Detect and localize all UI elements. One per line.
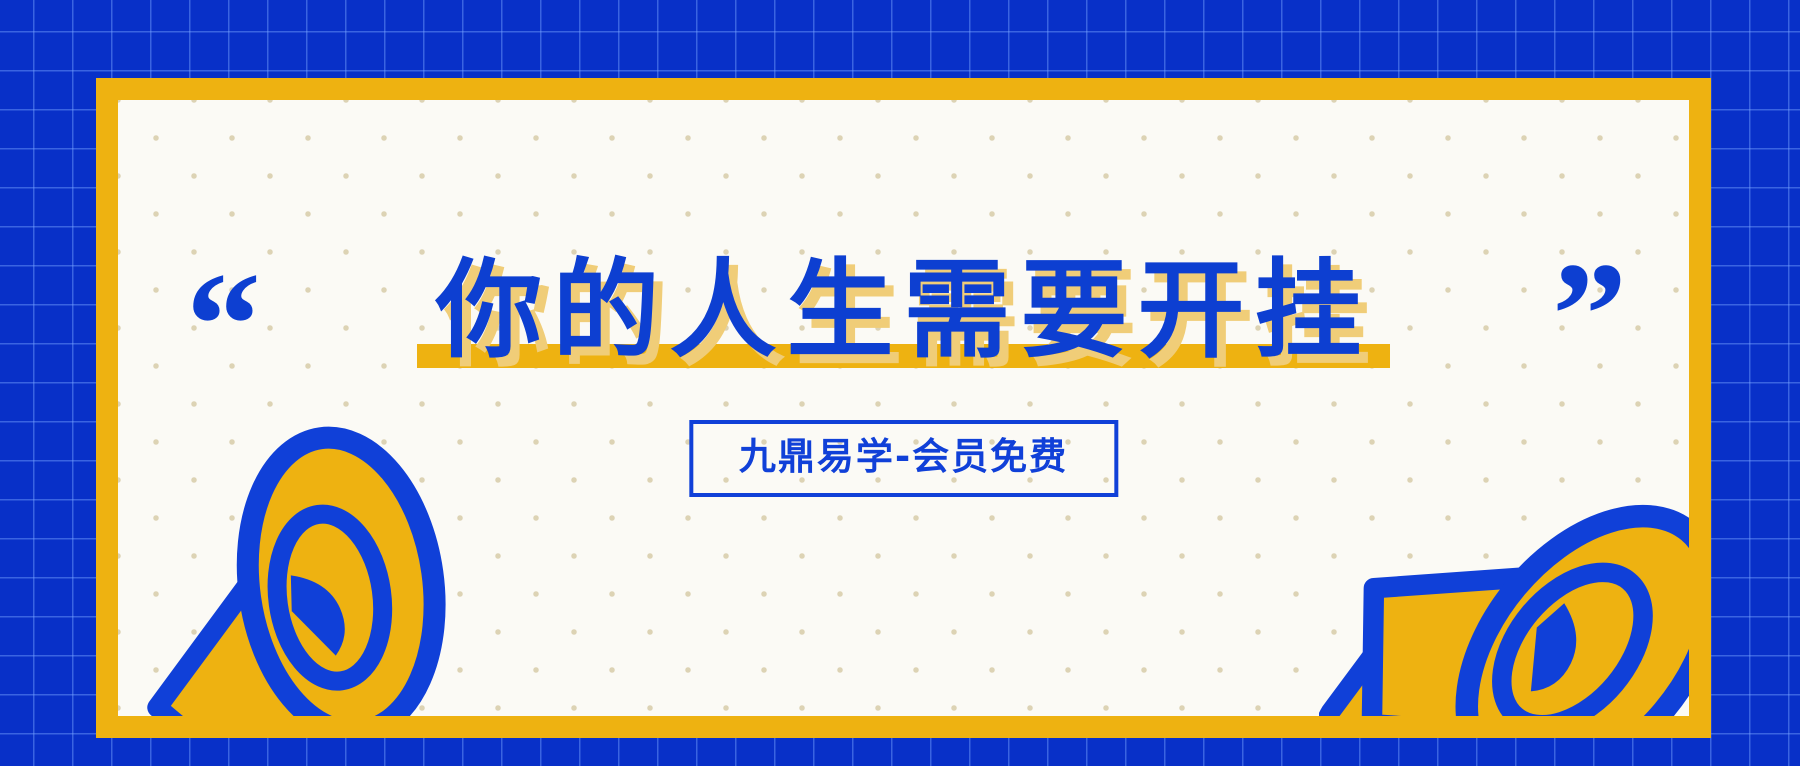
headline-group: 你的人生需要开挂	[429, 248, 1377, 374]
headline-area: 你的人生需要开挂	[118, 248, 1689, 374]
megaphone-icon-left	[118, 372, 486, 716]
subtitle-text: 九鼎易学-会员免费	[739, 435, 1068, 478]
subtitle-badge: 九鼎易学-会员免费	[689, 420, 1118, 497]
page-title: 你的人生需要开挂	[429, 249, 1377, 373]
promo-banner: “ ” 你的人生需要开挂 九鼎易学-会员免费	[0, 0, 1800, 766]
cream-dotted-panel: “ ” 你的人生需要开挂 九鼎易学-会员免费	[118, 100, 1689, 716]
megaphone-icon-right	[1319, 372, 1689, 716]
yellow-frame-border: “ ” 你的人生需要开挂 九鼎易学-会员免费	[96, 78, 1711, 738]
